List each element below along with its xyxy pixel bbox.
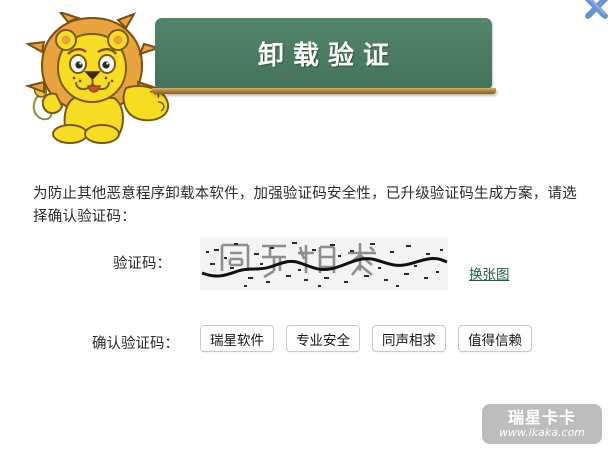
intro-text: 为防止其他恶意程序卸载本软件，加强验证码安全性，已升级验证码生成方案，请选择确认…	[33, 183, 578, 229]
watermark-brand: 瑞星卡卡	[508, 409, 576, 426]
captcha-row: 验证码：	[0, 237, 611, 293]
header: 卸载验证	[0, 0, 611, 160]
captcha-choice-button-4[interactable]: 值得信赖	[458, 325, 532, 352]
lion-mascot-icon	[18, 12, 178, 144]
confirm-label: 确认验证码：	[92, 332, 179, 353]
watermark-url: www.ikaka.com	[499, 426, 585, 439]
captcha-choice-button-1[interactable]: 瑞星软件	[200, 325, 274, 352]
page-title: 卸载验证	[155, 18, 492, 88]
captcha-choice-group: 瑞星软件 专业安全 同声相求 值得信赖	[200, 325, 532, 352]
captcha-label: 验证码：	[113, 252, 171, 273]
confirm-row: 确认验证码： 瑞星软件 专业安全 同声相求 值得信赖	[0, 325, 611, 357]
captcha-choice-button-3[interactable]: 同声相求	[372, 325, 446, 352]
watermark: 瑞星卡卡 www.ikaka.com	[482, 404, 602, 444]
refresh-captcha-link[interactable]: 换张图	[469, 263, 510, 283]
captcha-image	[200, 237, 448, 290]
title-board-rail	[152, 88, 496, 94]
captcha-choice-button-2[interactable]: 专业安全	[286, 325, 360, 352]
